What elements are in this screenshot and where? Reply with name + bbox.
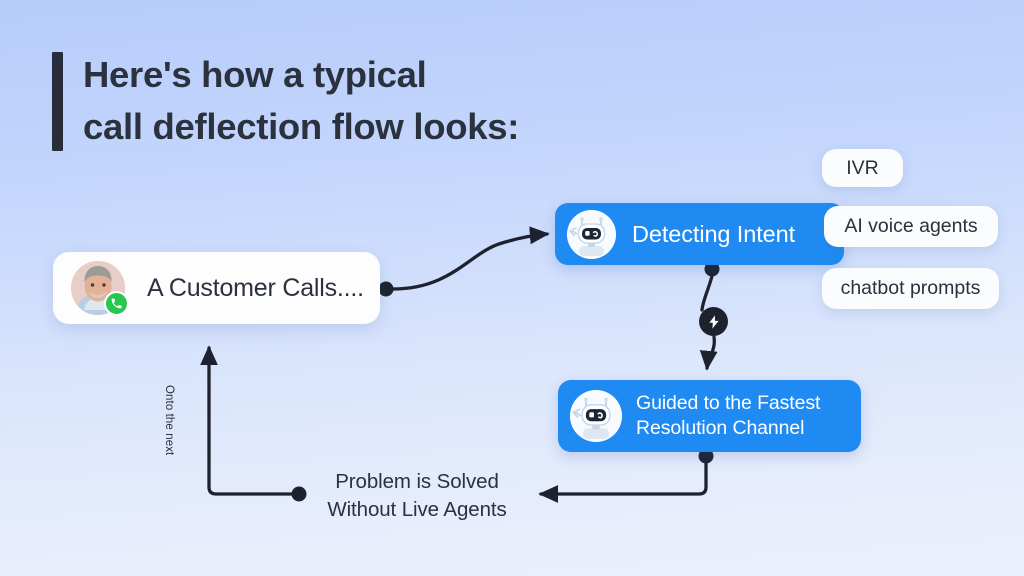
customer-call-card[interactable]: A Customer Calls.... — [53, 252, 380, 324]
robot-icon — [570, 390, 622, 442]
outcome-line-1: Problem is Solved — [321, 468, 513, 496]
connector-dot-customer — [379, 282, 394, 297]
page-title: Here's how a typical call deflection flo… — [52, 49, 519, 153]
chip-ivr[interactable]: IVR — [822, 149, 903, 187]
loop-label: Onto the next — [163, 385, 175, 485]
title-line-2: call deflection flow looks: — [83, 101, 519, 153]
node-detecting-intent-label: Detecting Intent — [632, 221, 795, 248]
connector-guided-to-outcome — [541, 463, 706, 494]
connector-outcome-to-customer — [209, 348, 292, 494]
node-guided-resolution[interactable]: Guided to the Fastest Resolution Channel — [558, 380, 861, 452]
lightning-bolt-icon — [699, 307, 728, 336]
connector-dot-outcome — [292, 487, 307, 502]
chip-ai-voice-agents[interactable]: AI voice agents — [824, 206, 998, 247]
outcome-line-2: Without Live Agents — [321, 496, 513, 524]
node-guided-line-2: Resolution Channel — [636, 416, 820, 441]
title-accent-bar — [52, 52, 63, 151]
flow-diagram-canvas: Here's how a typical call deflection flo… — [0, 0, 1024, 576]
connector-intent-to-bolt — [702, 276, 712, 310]
node-guided-resolution-label: Guided to the Fastest Resolution Channel — [636, 391, 820, 441]
node-guided-line-1: Guided to the Fastest — [636, 391, 820, 416]
title-text: Here's how a typical call deflection flo… — [83, 49, 519, 153]
connector-customer-to-intent — [393, 234, 547, 289]
chip-chatbot-prompts[interactable]: chatbot prompts — [822, 268, 999, 309]
phone-icon — [104, 291, 129, 316]
connector-bolt-to-guided — [707, 337, 714, 368]
node-detecting-intent[interactable]: Detecting Intent — [555, 203, 844, 265]
avatar — [71, 261, 125, 315]
customer-card-label: A Customer Calls.... — [147, 274, 364, 303]
outcome-text: Problem is Solved Without Live Agents — [321, 468, 513, 524]
title-line-1: Here's how a typical — [83, 54, 426, 95]
robot-icon — [567, 210, 616, 259]
